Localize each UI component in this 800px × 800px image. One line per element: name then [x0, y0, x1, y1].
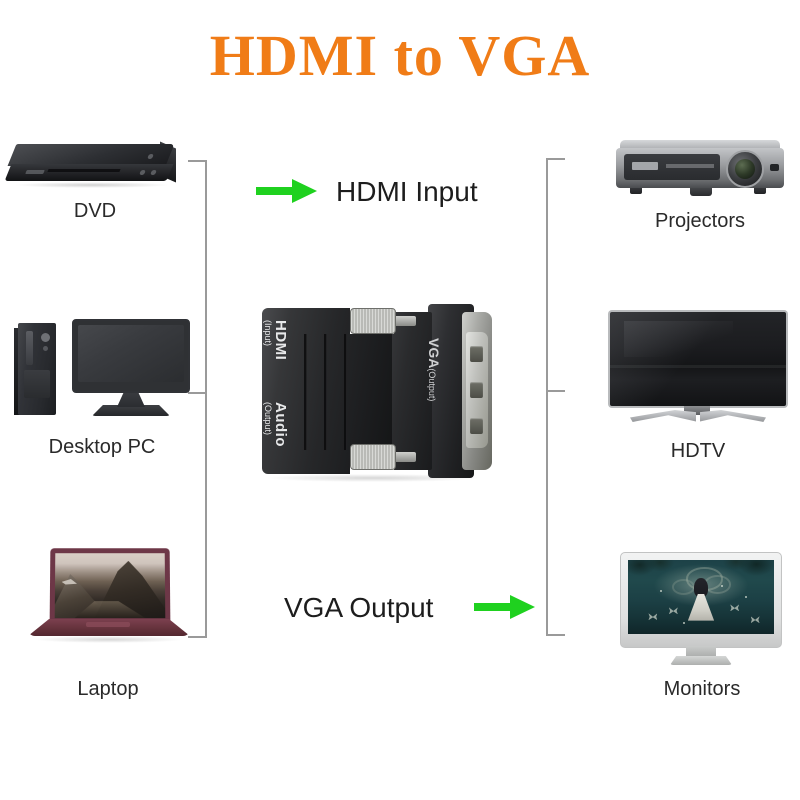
- device-desktop-pc: [14, 315, 194, 425]
- vga-output-arrow-icon: [474, 594, 536, 620]
- hdtv-screen: [610, 312, 786, 406]
- adapter-vga-pin-row-1: [470, 346, 483, 362]
- right-bracket-stub-hdtv: [546, 390, 565, 392]
- left-bracket-vertical: [205, 160, 207, 638]
- laptop-shadow: [34, 636, 184, 643]
- infographic-page: HDMI to VGA DVD Desktop PC: [0, 0, 800, 800]
- device-label-desktop-pc: Desktop PC: [12, 436, 192, 459]
- adapter-port-label-audio: Audio (Output): [263, 402, 288, 447]
- device-label-laptop: Laptop: [28, 678, 188, 701]
- hdtv-screen-band: [610, 365, 786, 369]
- pc-monitor-neck: [117, 391, 145, 407]
- laptop-lid: [50, 548, 171, 622]
- device-label-dvd: DVD: [20, 200, 170, 223]
- dvd-disc-tray: [47, 169, 120, 172]
- dvd-brand-logo: [25, 170, 45, 174]
- monitor-screen-wallpaper: [628, 560, 774, 634]
- left-bracket-stub-dvd: [188, 160, 207, 162]
- adapter-ridge-1: [304, 334, 307, 450]
- projector-lens-glass: [735, 159, 755, 179]
- adapter-port-audio-direction: (Output): [263, 402, 272, 447]
- hdtv-stand-wing-right: [700, 410, 766, 422]
- wallpaper-ring-small: [672, 579, 695, 595]
- projector-brand-logo: [632, 162, 658, 170]
- pc-power-button: [41, 333, 50, 342]
- device-label-hdtv: HDTV: [608, 440, 788, 463]
- device-laptop: [28, 548, 190, 648]
- hdmi-input-label: HDMI Input: [336, 176, 478, 208]
- pc-optical-drive: [26, 331, 33, 365]
- wallpaper-butterfly-2: [669, 607, 678, 614]
- laptop-trackpad: [86, 622, 130, 627]
- adapter-thumbscrew-bottom[interactable]: [350, 444, 396, 470]
- pc-monitor-screen: [78, 325, 184, 382]
- wallpaper-sparkle-4: [683, 622, 685, 624]
- adapter-thumbscrew-shaft-bottom: [394, 452, 416, 462]
- monitor-stand-base: [670, 656, 732, 665]
- laptop-screen-wallpaper: [55, 553, 166, 618]
- hdtv-frame: [608, 310, 788, 408]
- dvd-shadow: [14, 182, 170, 188]
- adapter-ridge-2: [324, 334, 327, 450]
- adapter-port-audio-name: Audio: [272, 402, 288, 447]
- left-bracket-stub-laptop: [188, 636, 207, 638]
- adapter-thumbscrew-top[interactable]: [350, 308, 396, 334]
- adapter-ridge-3: [344, 334, 347, 450]
- wallpaper-sparkle-3: [745, 596, 747, 598]
- device-monitor: [620, 552, 782, 668]
- pc-monitor-body: [72, 319, 190, 393]
- hdtv-stand-wing-left: [630, 410, 696, 422]
- hdtv-screen-glare: [624, 321, 733, 357]
- adapter-port-hdmi-direction: (Input): [263, 320, 272, 360]
- adapter-vga-pin-row-2: [470, 382, 483, 398]
- device-projector: [614, 140, 786, 206]
- wallpaper-butterfly-3: [730, 604, 739, 611]
- wallpaper-sparkle-1: [660, 590, 662, 592]
- device-hdtv: [608, 310, 788, 432]
- wallpaper-butterfly-4: [751, 616, 760, 623]
- adapter-port-label-vga: VGA(Output): [426, 338, 442, 401]
- wallpaper-ring-medium: [704, 575, 731, 594]
- adapter-vga-pin-row-3: [470, 418, 483, 434]
- pc-tower: [18, 323, 56, 415]
- monitor-bezel: [620, 552, 782, 648]
- right-bracket-vertical: [546, 158, 548, 636]
- adapter-port-hdmi-name: HDMI: [272, 320, 288, 360]
- adapter-thumbscrew-shaft-top: [394, 316, 416, 326]
- device-label-projectors: Projectors: [610, 210, 790, 233]
- projector-model-text: [666, 164, 714, 168]
- right-bracket-stub-monitors: [546, 634, 565, 636]
- pc-front-panel: [24, 370, 50, 398]
- wallpaper-figure-dress: [688, 594, 714, 621]
- vga-output-label: VGA Output: [284, 592, 433, 624]
- adapter-port-label-hdmi: HDMI (Input): [263, 320, 288, 360]
- hdmi-input-arrow-icon: [256, 178, 318, 204]
- adapter-port-vga-name: VGA: [426, 338, 442, 368]
- device-dvd: [8, 142, 178, 202]
- hdmi-to-vga-adapter: HDMI (Input) Audio (Output) VGA(Output): [258, 290, 506, 490]
- pc-led-indicator: [43, 346, 48, 351]
- right-bracket-stub-projectors: [546, 158, 565, 160]
- adapter-port-vga-direction: (Output): [427, 368, 437, 401]
- wallpaper-butterfly-1: [648, 613, 657, 620]
- device-label-monitors: Monitors: [620, 678, 784, 701]
- page-title: HDMI to VGA: [0, 22, 800, 89]
- projector-ir-sensor: [770, 164, 779, 171]
